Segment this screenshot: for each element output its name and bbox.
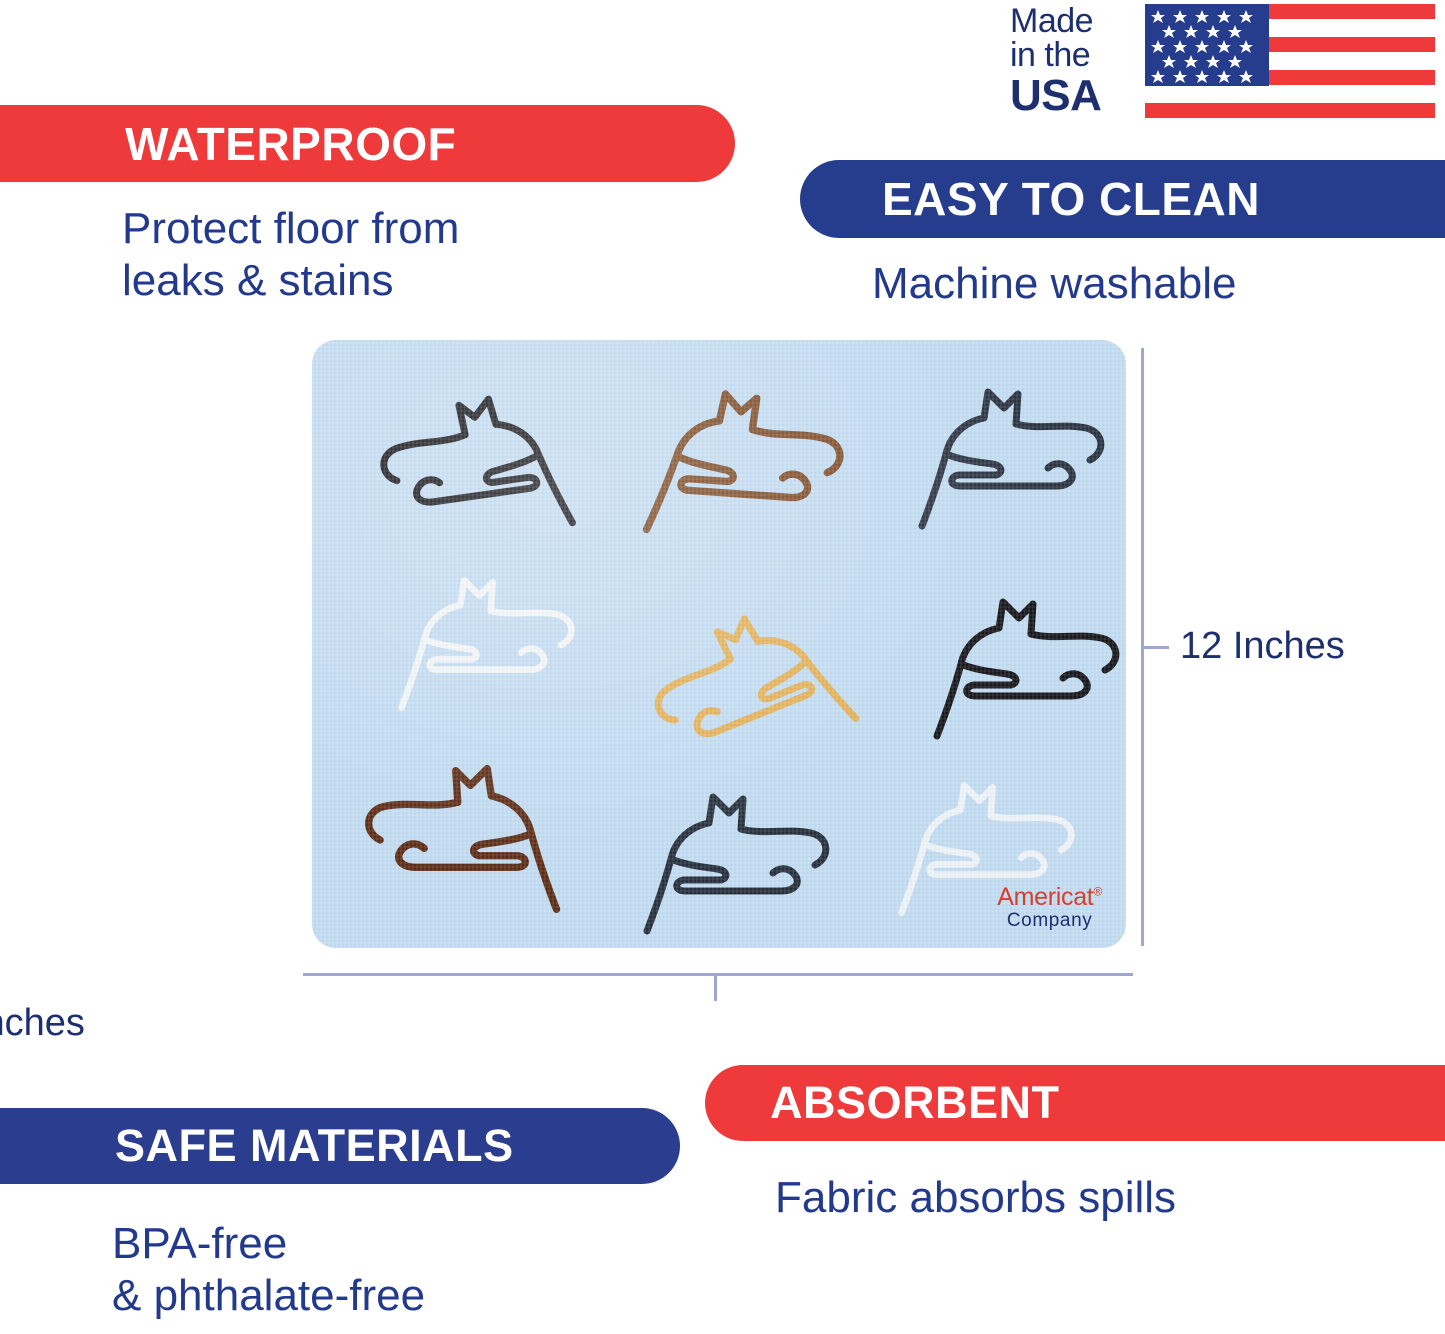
feature-banner-easy-to-clean: EASY TO CLEAN <box>800 160 1445 238</box>
feature-title-absorbent: ABSORBENT <box>770 1077 1060 1129</box>
feature-caption-absorbent: Fabric absorbs spills <box>775 1172 1176 1224</box>
badge-line-2: in the <box>1010 38 1140 72</box>
badge-line-1: Made <box>1010 4 1140 38</box>
dimension-label-width-text: 16 Inches <box>0 1002 85 1044</box>
made-in-usa-text: Made in the USA <box>1010 4 1140 118</box>
cat-bottom-left <box>369 769 557 910</box>
logo-subtitle: Company <box>997 911 1102 930</box>
usa-flag-icon <box>1145 4 1435 132</box>
dimension-tick-vertical <box>1141 646 1169 649</box>
dimension-label-width: 16 Inches <box>0 1002 1435 1045</box>
made-in-usa-badge: Made in the USA <box>1010 4 1440 144</box>
feature-caption-safe-materials: BPA-free & phthalate-free <box>112 1218 425 1322</box>
logo-brand: Americat® <box>997 885 1102 910</box>
mat-surface <box>312 340 1126 948</box>
cat-mid-right <box>937 602 1116 736</box>
cat-mid-left <box>402 580 572 707</box>
cat-pattern <box>312 340 1126 948</box>
feature-banner-absorbent: ABSORBENT <box>705 1065 1445 1141</box>
badge-line-3: USA <box>1010 74 1140 118</box>
product-mat: Americat® Company <box>312 340 1126 948</box>
feature-title-waterproof: WATERPROOF <box>125 117 456 171</box>
feature-caption-easy-to-clean: Machine washable <box>872 258 1236 310</box>
feature-caption-waterproof: Protect floor from leaks & stains <box>122 203 459 307</box>
cat-top-right <box>922 392 1101 526</box>
dimension-line-horizontal <box>303 973 1133 976</box>
cat-top-center <box>647 389 844 542</box>
feature-banner-safe-materials: SAFE MATERIALS <box>0 1108 680 1184</box>
dimension-tick-horizontal <box>714 973 717 1001</box>
cat-mid-center <box>640 594 856 785</box>
feature-banner-waterproof: WATERPROOF <box>0 105 735 182</box>
dimension-label-height: 12 Inches <box>1180 625 1345 668</box>
feature-title-easy-to-clean: EASY TO CLEAN <box>882 172 1260 226</box>
americat-logo: Americat® Company <box>997 885 1102 930</box>
cat-top-left <box>377 390 573 548</box>
feature-title-safe-materials: SAFE MATERIALS <box>115 1120 514 1172</box>
cat-bottom-center <box>647 797 826 931</box>
